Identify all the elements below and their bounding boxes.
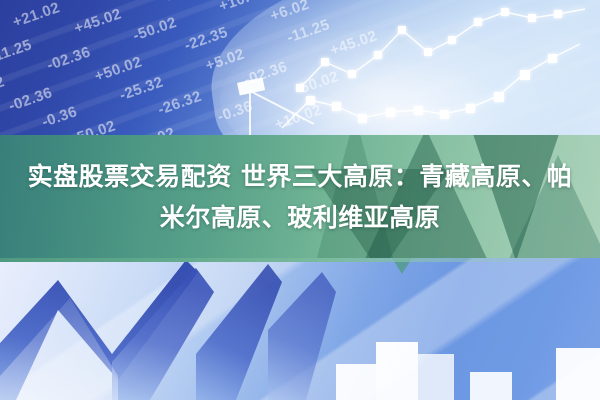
upward-trend-arrow-icon xyxy=(0,258,600,400)
headline-line-2: 米尔高原、玻利维亚高原 xyxy=(160,197,441,238)
headline-line-1: 实盘股票交易配资 世界三大高原：青藏高原、帕 xyxy=(28,156,573,197)
lower-chart-panel xyxy=(0,258,600,400)
stock-news-banner: -09.36-25.36+21.02-11.25+45.02-8.36-45.0… xyxy=(0,0,600,400)
green-sliver-divider xyxy=(0,258,600,262)
headline-block: 实盘股票交易配资 世界三大高原：青藏高原、帕 米尔高原、玻利维亚高原 xyxy=(0,135,600,258)
